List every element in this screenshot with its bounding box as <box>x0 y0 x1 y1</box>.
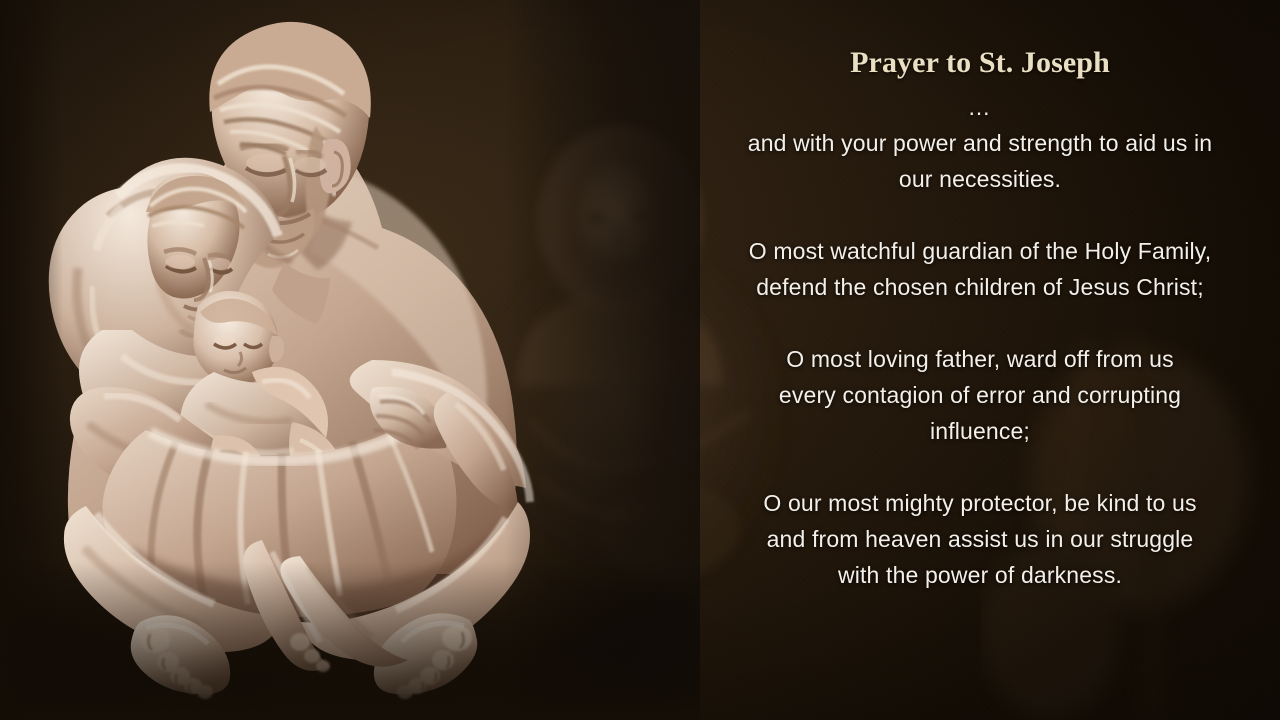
prayer-line: O most loving father, ward off from us <box>692 341 1268 377</box>
prayer-line: and with your power and strength to aid … <box>692 125 1268 161</box>
prayer-ellipsis: … <box>692 89 1268 125</box>
prayer-text-panel: Prayer to St. Joseph … and with your pow… <box>680 0 1280 720</box>
prayer-stanza-3: O most loving father, ward off from us e… <box>692 341 1268 449</box>
prayer-line: every contagion of error and corrupting <box>692 377 1268 413</box>
prayer-slide: Prayer to St. Joseph … and with your pow… <box>0 0 1280 720</box>
prayer-stanza-1: and with your power and strength to aid … <box>692 125 1268 197</box>
prayer-line: influence; <box>692 413 1268 449</box>
stanza-spacer <box>692 449 1268 485</box>
prayer-line: and from heaven assist us in our struggl… <box>692 521 1268 557</box>
stanza-spacer <box>692 197 1268 233</box>
prayer-body: … and with your power and strength to ai… <box>692 89 1268 593</box>
prayer-line: with the power of darkness. <box>692 557 1268 593</box>
prayer-stanza-4: O our most mighty protector, be kind to … <box>692 485 1268 593</box>
prayer-stanza-2: O most watchful guardian of the Holy Fam… <box>692 233 1268 305</box>
holy-family-statue <box>0 0 700 720</box>
prayer-line: O most watchful guardian of the Holy Fam… <box>692 233 1268 269</box>
prayer-line: defend the chosen children of Jesus Chri… <box>692 269 1268 305</box>
stanza-spacer <box>692 305 1268 341</box>
prayer-line: O our most mighty protector, be kind to … <box>692 485 1268 521</box>
prayer-line: our necessities. <box>692 161 1268 197</box>
page-title: Prayer to St. Joseph <box>692 46 1268 81</box>
